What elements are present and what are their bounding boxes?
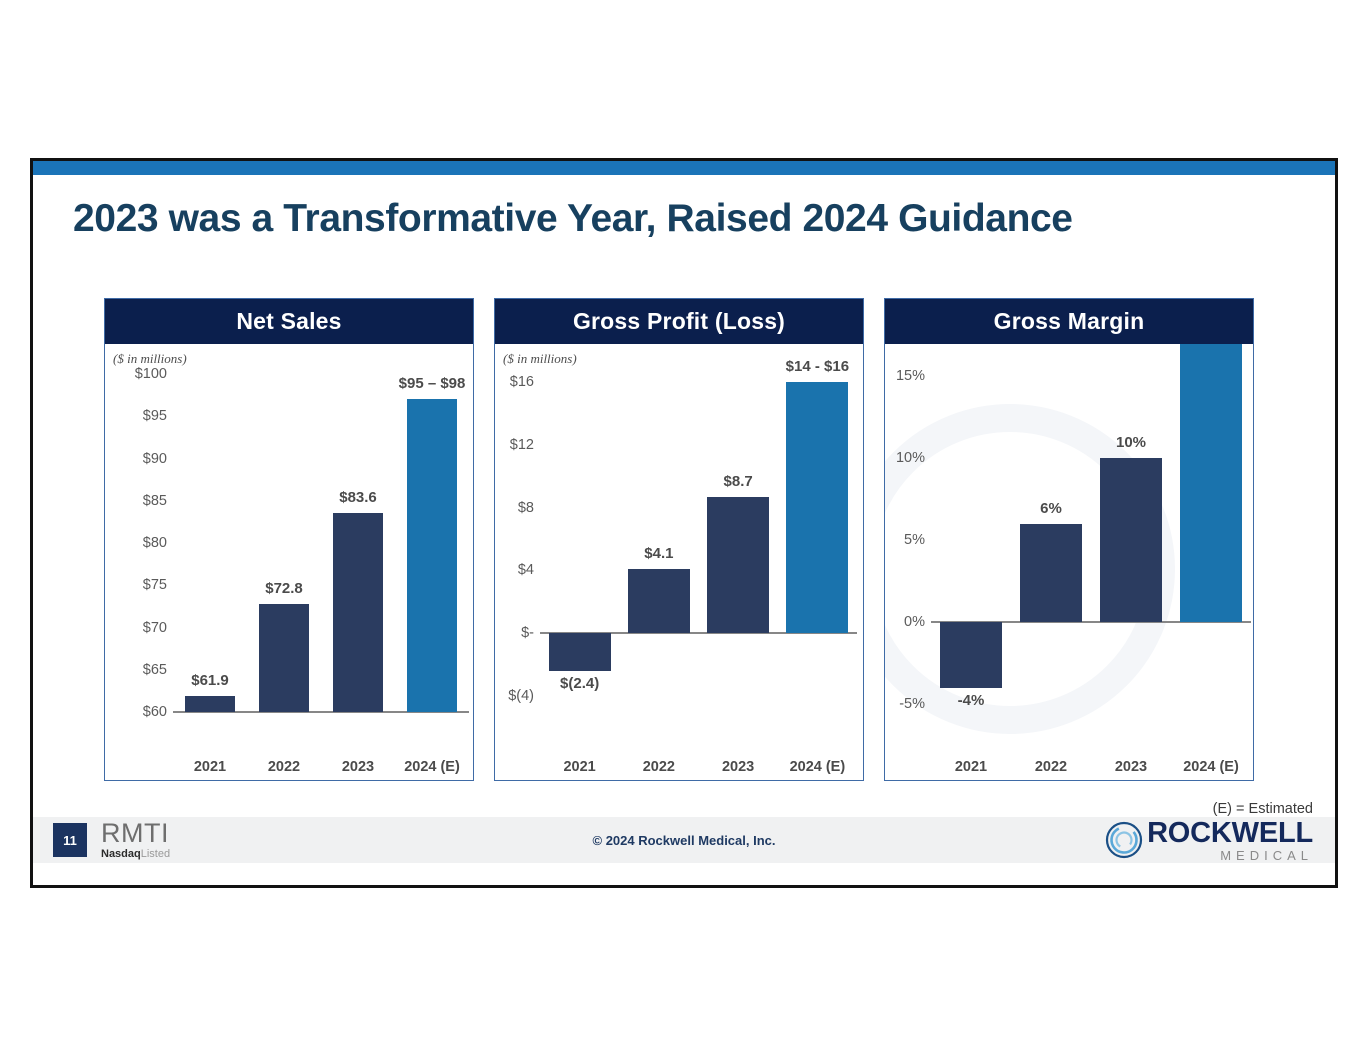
bar-2024-e-	[407, 399, 457, 712]
chart-title-gross-profit: Gross Profit (Loss)	[495, 299, 863, 344]
y-axis-tick: $60	[105, 704, 167, 720]
chart-title-net-sales: Net Sales	[105, 299, 473, 344]
x-axis-category-label: 2023	[342, 759, 374, 775]
bar-2023	[1100, 458, 1162, 622]
y-axis-tick: $16	[495, 374, 534, 390]
chart-plot-net-sales: ($ in millions) $100$95$90$85$80$75$70$6…	[105, 344, 473, 781]
exchange-listing: NasdaqListed	[101, 849, 170, 860]
bar-value-label: $14 - $16	[786, 358, 849, 375]
logo-wordmark: ROCKWELL MEDICAL	[1147, 819, 1313, 862]
bar-2021	[940, 622, 1002, 688]
page-title: 2023 was a Transformative Year, Raised 2…	[73, 197, 1073, 241]
bar-value-label: $4.1	[644, 545, 673, 562]
bar-value-label: 6%	[1040, 500, 1062, 517]
y-axis-tick: $12	[495, 437, 534, 453]
x-axis-category-label: 2023	[722, 759, 754, 775]
y-axis-tick: $8	[495, 500, 534, 516]
y-axis-tick: $65	[105, 662, 167, 678]
x-axis-category-label: 2024 (E)	[1183, 759, 1239, 775]
y-axis-tick: $90	[105, 451, 167, 467]
chart-plot-gross-margin: 15%10%5%0%-5%-4%20216%202210%202314% – 1…	[885, 344, 1253, 781]
x-axis-category-label: 2021	[955, 759, 987, 775]
bar-2024-e-	[1180, 344, 1242, 622]
bar-2024-e-	[786, 382, 848, 633]
x-axis-category-label: 2021	[194, 759, 226, 775]
bar-value-label: $95 – $98	[399, 375, 466, 392]
slide-canvas: 2023 was a Transformative Year, Raised 2…	[30, 158, 1338, 888]
x-axis-category-label: 2022	[268, 759, 300, 775]
exchange-name: Nasdaq	[101, 848, 141, 860]
exchange-listed-word: Listed	[141, 848, 170, 860]
y-axis-tick: -5%	[885, 696, 925, 712]
chart-subtitle-gross-profit: ($ in millions)	[503, 351, 577, 367]
bar-value-label: $83.6	[339, 489, 377, 506]
y-axis-tick: $80	[105, 535, 167, 551]
bar-2022	[1020, 524, 1082, 622]
logo-primary-text: ROCKWELL	[1147, 819, 1313, 848]
chart-card-gross-profit: Gross Profit (Loss) ($ in millions) $16$…	[494, 298, 864, 781]
y-axis-tick: $4	[495, 562, 534, 578]
x-axis-category-label: 2022	[1035, 759, 1067, 775]
x-axis-category-label: 2024 (E)	[404, 759, 460, 775]
y-axis-tick: 0%	[885, 614, 925, 630]
y-axis-tick: $100	[105, 366, 167, 382]
y-axis-tick: $(4)	[495, 688, 534, 704]
bar-value-label: $61.9	[191, 672, 229, 689]
chart-card-gross-margin: Gross Margin 15%10%5%0%-5%-4%20216%20221…	[884, 298, 1254, 781]
company-logo: ROCKWELL MEDICAL	[1104, 819, 1313, 862]
y-axis-tick: 10%	[885, 450, 925, 466]
chart-title-gross-margin: Gross Margin	[885, 299, 1253, 344]
bar-value-label: -4%	[958, 692, 985, 709]
estimated-legend-note: (E) = Estimated	[1213, 801, 1313, 817]
bar-2021	[549, 633, 611, 671]
bar-value-label: $72.8	[265, 580, 303, 597]
slide-accent-bar	[33, 161, 1335, 175]
bar-2022	[628, 569, 690, 633]
chart-subtitle-net-sales: ($ in millions)	[113, 351, 187, 367]
bar-2022	[259, 604, 309, 712]
bar-2021	[185, 696, 235, 712]
x-axis-category-label: 2022	[643, 759, 675, 775]
bar-value-label: $(2.4)	[560, 675, 599, 692]
y-axis-tick: $-	[495, 625, 534, 641]
x-axis-category-label: 2023	[1115, 759, 1147, 775]
chart-card-net-sales: Net Sales ($ in millions) $100$95$90$85$…	[104, 298, 474, 781]
rockwell-ring-icon	[1104, 820, 1144, 860]
x-axis-category-label: 2021	[563, 759, 595, 775]
bar-2023	[333, 513, 383, 712]
bar-value-label: $8.7	[724, 473, 753, 490]
y-axis-tick: $95	[105, 408, 167, 424]
x-axis-category-label: 2024 (E)	[790, 759, 846, 775]
slide-footer: 11 RMTI NasdaqListed © 2024 Rockwell Med…	[33, 817, 1335, 863]
y-axis-tick: $70	[105, 620, 167, 636]
logo-secondary-text: MEDICAL	[1147, 849, 1313, 862]
chart-plot-gross-profit: ($ in millions) $16$12$8$4$-$(4)$(2.4)20…	[495, 344, 863, 781]
y-axis-tick: 5%	[885, 532, 925, 548]
y-axis-tick: $85	[105, 493, 167, 509]
y-axis-tick: $75	[105, 577, 167, 593]
y-axis-tick: 15%	[885, 368, 925, 384]
bar-2023	[707, 497, 769, 634]
bar-value-label: 10%	[1116, 434, 1146, 451]
